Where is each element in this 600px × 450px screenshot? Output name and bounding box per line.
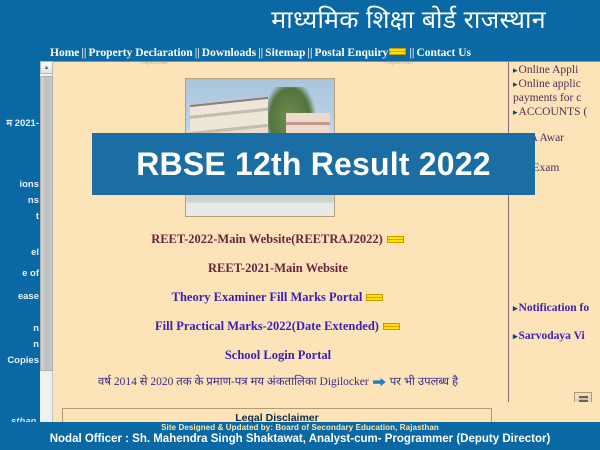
legal-disclaimer-box: Legal Disclaimer The information contain… — [62, 408, 492, 423]
right-sidebar-item-label: payments for c — [513, 92, 581, 104]
left-column-line: ions — [19, 179, 39, 190]
bullet-arrow-icon: ▸ — [513, 79, 518, 89]
main-link-label: School Login Portal — [225, 348, 331, 362]
left-column-line: t — [36, 211, 39, 222]
result-overlay-title: RBSE 12th Result 2022 — [136, 146, 491, 183]
new-badge-icon — [366, 294, 383, 301]
left-column-line: e of — [22, 268, 39, 279]
nav-separator: || — [407, 46, 416, 60]
page-root: माध्यमिक शिक्षा बोर्ड राजस्थान Home || P… — [0, 0, 600, 450]
right-sidebar-item[interactable]: ▸Notification fo — [513, 302, 589, 314]
left-column-line: ease — [18, 291, 39, 302]
nav-item-property-declaration[interactable]: Property Declaration — [88, 46, 192, 60]
main-content: Rajasthan Rajasthan REET-2022-Main Websi… — [54, 62, 502, 423]
left-sidebar-clipped: म 2021-ionsnstele ofeasennCopiessthan.oB — [0, 61, 40, 450]
main-link-label: REET-2022-Main Website(REETRAJ2022) — [151, 232, 383, 246]
footer-nodal-officer-line: Nodal Officer : Sh. Mahendra Singh Shakt… — [0, 433, 600, 445]
left-column-line: Copies — [7, 355, 39, 366]
bullet-arrow-icon: ▸ — [513, 331, 518, 341]
right-sidebar-item[interactable]: ▸ACCOUNTS ( — [513, 106, 587, 118]
left-column-line: n — [33, 339, 39, 350]
main-link-label: REET-2021-Main Website — [208, 261, 348, 275]
bullet-arrow-icon: ▸ — [513, 303, 518, 313]
right-sidebar-item[interactable]: ▸Online applic — [513, 78, 581, 90]
site-footer: Site Designed & Updated by: Board of Sec… — [0, 422, 600, 450]
legal-disclaimer-title: Legal Disclaimer — [63, 409, 491, 423]
left-column-line: म 2021- — [6, 116, 39, 129]
main-link[interactable]: Theory Examiner Fill Marks Portal — [54, 290, 502, 305]
new-badge-icon — [383, 323, 400, 330]
footer-credit-line: Site Designed & Updated by: Board of Sec… — [0, 423, 600, 432]
result-overlay-banner: RBSE 12th Result 2022 — [92, 133, 535, 195]
digilocker-notice: वर्ष 2014 से 2020 तक के प्रमाण-पत्र मय अ… — [54, 374, 502, 389]
right-sidebar-item-label: Sarvodaya Vi — [519, 330, 585, 342]
right-sidebar-item-label: Notification fo — [519, 302, 590, 314]
watermark-right: Rajasthan — [384, 62, 413, 66]
main-link[interactable]: REET-2021-Main Website — [54, 261, 502, 276]
bullet-arrow-icon: ▸ — [513, 65, 518, 75]
site-header: माध्यमिक शिक्षा बोर्ड राजस्थान — [0, 0, 600, 46]
scrollbar-thumb[interactable] — [40, 76, 53, 371]
main-link[interactable]: REET-2022-Main Website(REETRAJ2022) — [54, 232, 502, 247]
nav-separator: || — [79, 46, 88, 60]
right-sidebar: ▸Sarvodaya Vi▸Notification foical ExamDN… — [508, 62, 600, 402]
main-link[interactable]: School Login Portal — [54, 348, 502, 363]
nav-separator: || — [193, 46, 202, 60]
nav-separator: || — [256, 46, 265, 60]
new-badge-icon — [387, 236, 404, 243]
digilocker-arrow-icon[interactable] — [373, 376, 386, 387]
right-sidebar-item-label: Online applic — [519, 78, 581, 90]
right-sidebar-item-label: ACCOUNTS ( — [519, 106, 588, 118]
nav-item-sitemap[interactable]: Sitemap — [265, 46, 305, 60]
nav-item-postal-enquiry[interactable]: Postal Enquiry — [315, 46, 389, 60]
page-title: माध्यमिक शिक्षा बोर्ड राजस्थान — [271, 2, 546, 36]
bullet-arrow-icon: ▸ — [513, 107, 518, 117]
nav-separator: || — [305, 46, 314, 60]
main-links-list: REET-2022-Main Website(REETRAJ2022)REET-… — [54, 232, 502, 377]
main-link-label: Fill Practical Marks-2022(Date Extended) — [155, 319, 379, 333]
government-emblem-icon — [574, 392, 592, 402]
new-badge-icon — [389, 48, 406, 55]
nav-item-contact-us[interactable]: Contact Us — [416, 46, 471, 60]
digilocker-text-after: पर भी उपलब्ध है — [390, 376, 458, 388]
nav-item-home[interactable]: Home — [50, 46, 79, 60]
nav-item-downloads[interactable]: Downloads — [202, 46, 256, 60]
right-sidebar-item[interactable]: ▸Online Appli — [513, 64, 578, 76]
scroll-up-button[interactable]: ▲ — [40, 61, 53, 74]
left-column-line: ns — [28, 195, 39, 206]
left-column-line: n — [33, 323, 39, 334]
watermark-left: Rajasthan — [140, 62, 169, 66]
right-sidebar-item-label: Online Appli — [519, 64, 579, 76]
main-link[interactable]: Fill Practical Marks-2022(Date Extended) — [54, 319, 502, 334]
main-link-label: Theory Examiner Fill Marks Portal — [172, 290, 363, 304]
top-navigation[interactable]: Home || Property Declaration || Download… — [0, 46, 600, 61]
right-sidebar-item[interactable]: ▸Sarvodaya Vi — [513, 330, 585, 342]
digilocker-text-before: वर्ष 2014 से 2020 तक के प्रमाण-पत्र मय अ… — [98, 376, 369, 388]
vertical-scrollbar[interactable]: ▲ ▼ — [40, 61, 53, 444]
right-sidebar-item[interactable]: payments for c — [513, 92, 581, 104]
left-column-line: el — [31, 247, 39, 258]
